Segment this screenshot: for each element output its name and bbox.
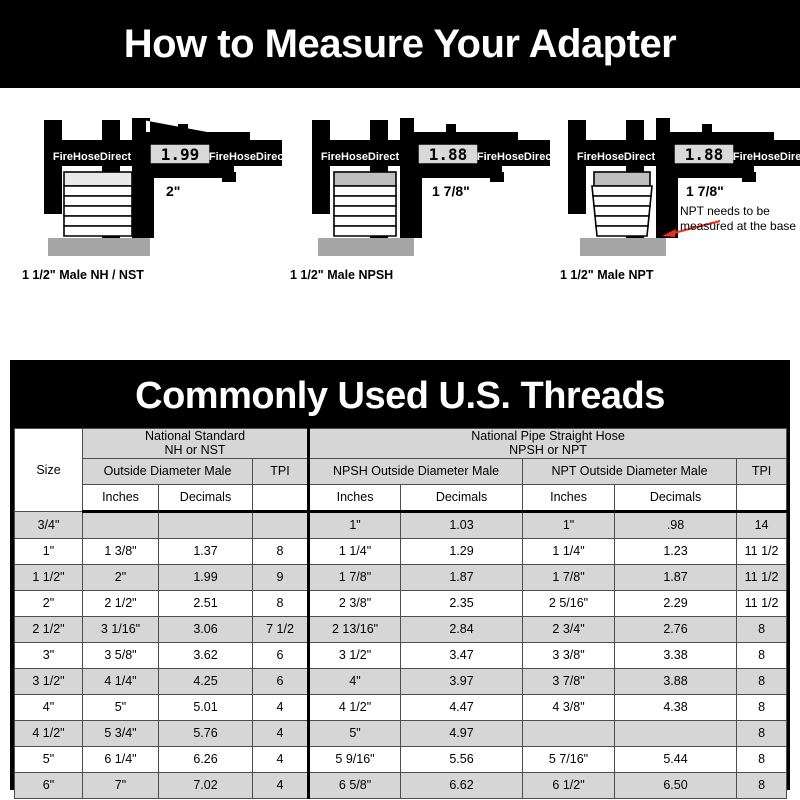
cell-npt-inches: 1 7/8" bbox=[523, 564, 615, 590]
cell-nh-tpi: 8 bbox=[253, 538, 309, 564]
dimension-label-npt: 1 7/8" bbox=[686, 183, 724, 199]
cell-npsh-decimals: 1.87 bbox=[401, 564, 523, 590]
caliper-watermark-nh-nst: FireHoseDirect bbox=[209, 151, 282, 163]
cell-nh-decimals: 2.51 bbox=[159, 590, 253, 616]
cell-nh-inches bbox=[83, 511, 159, 538]
cell-npsh-decimals: 1.29 bbox=[401, 538, 523, 564]
cell-size: 1 1/2" bbox=[15, 564, 83, 590]
cell-size: 4 1/2" bbox=[15, 720, 83, 746]
header-npsh-od: NPSH Outside Diameter Male bbox=[309, 458, 523, 484]
cell-npt-decimals: 1.87 bbox=[615, 564, 737, 590]
cell-npsh-inches: 1" bbox=[309, 511, 401, 538]
cell-npt-inches: 2 3/4" bbox=[523, 616, 615, 642]
threads-table: Size National Standard NH or NST Nationa… bbox=[14, 428, 787, 799]
cell-nh-tpi: 4 bbox=[253, 720, 309, 746]
cell-npsh-inches: 5 9/16" bbox=[309, 746, 401, 772]
cell-size: 2 1/2" bbox=[15, 616, 83, 642]
cell-npt-inches: 6 1/2" bbox=[523, 772, 615, 798]
cell-nh-tpi: 7 1/2 bbox=[253, 616, 309, 642]
cell-nh-inches: 2 1/2" bbox=[83, 590, 159, 616]
npt-annotation-line1: NPT needs to be bbox=[680, 204, 770, 218]
caliper-caption-nh-nst: 1 1/2" Male NH / NST bbox=[22, 268, 144, 282]
table-title-banner: Commonly Used U.S. Threads bbox=[14, 364, 786, 428]
caliper-display-value-nh-nst: 1.99 bbox=[161, 145, 200, 164]
cell-nh-inches: 2" bbox=[83, 564, 159, 590]
cell-nh-decimals: 3.06 bbox=[159, 616, 253, 642]
cell-nh-tpi bbox=[253, 511, 309, 538]
thread-illustration-npsh bbox=[318, 172, 414, 256]
header-npsh-decimals: Decimals bbox=[401, 484, 523, 511]
cell-size: 3 1/2" bbox=[15, 668, 83, 694]
cell-npt-decimals: 2.76 bbox=[615, 616, 737, 642]
cell-npsh-inches: 4 1/2" bbox=[309, 694, 401, 720]
header-size: Size bbox=[15, 429, 83, 512]
caliper-svg-nh-nst: 1.99 FireHoseDirect FireHoseDirect 2" bbox=[14, 88, 282, 288]
cell-npt-decimals: 2.29 bbox=[615, 590, 737, 616]
cell-npt-inches bbox=[523, 720, 615, 746]
cell-size: 6" bbox=[15, 772, 83, 798]
header-npt-od: NPT Outside Diameter Male bbox=[523, 458, 737, 484]
cell-npsh-decimals: 6.62 bbox=[401, 772, 523, 798]
table-body: 3/4"1"1.031".98141"1 3/8"1.3781 1/4"1.29… bbox=[15, 511, 787, 798]
cell-nh-decimals: 3.62 bbox=[159, 642, 253, 668]
table-row: 5"6 1/4"6.2645 9/16"5.565 7/16"5.448 bbox=[15, 746, 787, 772]
cell-size: 4" bbox=[15, 694, 83, 720]
cell-npt-decimals bbox=[615, 720, 737, 746]
caliper-watermark-left-nh-nst: FireHoseDirect bbox=[53, 151, 132, 163]
cell-npt-decimals: 3.88 bbox=[615, 668, 737, 694]
cell-npsh-inches: 2 3/8" bbox=[309, 590, 401, 616]
caliper-watermark-left-npt: FireHoseDirect bbox=[577, 151, 656, 163]
caliper-svg-npt: 1.88 FireHoseDirect FireHoseDirect 1 7/8… bbox=[550, 88, 800, 288]
header-npt-decimals: Decimals bbox=[615, 484, 737, 511]
cell-nh-inches: 5" bbox=[83, 694, 159, 720]
cell-npt-tpi: 14 bbox=[737, 511, 787, 538]
table-row: 6"7"7.0246 5/8"6.626 1/2"6.508 bbox=[15, 772, 787, 798]
table-row: 1 1/2"2"1.9991 7/8"1.871 7/8"1.8711 1/2 bbox=[15, 564, 787, 590]
table-title: Commonly Used U.S. Threads bbox=[135, 377, 665, 415]
cell-npsh-inches: 5" bbox=[309, 720, 401, 746]
caliper-diagram-nh-nst: 1.99 FireHoseDirect FireHoseDirect 2" bbox=[14, 88, 282, 288]
dimension-label-nh-nst: 2" bbox=[166, 183, 180, 199]
cell-npt-decimals: 1.23 bbox=[615, 538, 737, 564]
header-ns-line2: NH or NST bbox=[164, 443, 225, 457]
cell-nh-tpi: 4 bbox=[253, 772, 309, 798]
table-row: 2"2 1/2"2.5182 3/8"2.352 5/16"2.2911 1/2 bbox=[15, 590, 787, 616]
header-nh-tpi: TPI bbox=[253, 458, 309, 484]
cell-nh-decimals: 7.02 bbox=[159, 772, 253, 798]
caliper-diagram-npsh: 1.88 FireHoseDirect FireHoseDirect 1 7/8… bbox=[282, 88, 550, 288]
table-row: 3/4"1"1.031".9814 bbox=[15, 511, 787, 538]
cell-npt-tpi: 11 1/2 bbox=[737, 564, 787, 590]
cell-npt-inches: 4 3/8" bbox=[523, 694, 615, 720]
cell-npsh-inches: 6 5/8" bbox=[309, 772, 401, 798]
cell-npsh-decimals: 2.35 bbox=[401, 590, 523, 616]
cell-size: 3/4" bbox=[15, 511, 83, 538]
cell-npt-decimals: .98 bbox=[615, 511, 737, 538]
table-row: 2 1/2"3 1/16"3.067 1/22 13/16"2.842 3/4"… bbox=[15, 616, 787, 642]
cell-nh-tpi: 4 bbox=[253, 746, 309, 772]
cell-npt-tpi: 11 1/2 bbox=[737, 538, 787, 564]
cell-npsh-inches: 3 1/2" bbox=[309, 642, 401, 668]
caliper-diagram-band: FireHoseDirect 1.99 FireHoseDirect FireH… bbox=[0, 88, 800, 353]
cell-npt-decimals: 3.38 bbox=[615, 642, 737, 668]
header-npt-tpi-blank bbox=[737, 484, 787, 511]
cell-npt-tpi: 8 bbox=[737, 720, 787, 746]
cell-nh-inches: 3 5/8" bbox=[83, 642, 159, 668]
caliper-diagram-npt: 1.88 FireHoseDirect FireHoseDirect 1 7/8… bbox=[550, 88, 800, 288]
caliper-caption-npsh: 1 1/2" Male NPSH bbox=[290, 268, 393, 282]
cell-nh-inches: 1 3/8" bbox=[83, 538, 159, 564]
cell-nh-decimals: 5.76 bbox=[159, 720, 253, 746]
cell-nh-tpi: 9 bbox=[253, 564, 309, 590]
cell-npsh-decimals: 1.03 bbox=[401, 511, 523, 538]
caliper-display-value-npt: 1.88 bbox=[685, 145, 724, 164]
cell-npt-decimals: 6.50 bbox=[615, 772, 737, 798]
cell-nh-tpi: 4 bbox=[253, 694, 309, 720]
caliper-svg-npsh: 1.88 FireHoseDirect FireHoseDirect 1 7/8… bbox=[282, 88, 550, 288]
cell-size: 2" bbox=[15, 590, 83, 616]
caliper-caption-npt: 1 1/2" Male NPT bbox=[560, 268, 653, 282]
cell-npt-decimals: 5.44 bbox=[615, 746, 737, 772]
cell-npt-tpi: 8 bbox=[737, 746, 787, 772]
table-row: 3 1/2"4 1/4"4.2564"3.973 7/8"3.888 bbox=[15, 668, 787, 694]
thread-illustration-npt bbox=[580, 172, 666, 256]
caliper-watermark-left-npsh: FireHoseDirect bbox=[321, 151, 400, 163]
cell-npsh-inches: 2 13/16" bbox=[309, 616, 401, 642]
cell-npsh-decimals: 4.97 bbox=[401, 720, 523, 746]
cell-npt-tpi: 11 1/2 bbox=[737, 590, 787, 616]
cell-size: 5" bbox=[15, 746, 83, 772]
cell-nh-tpi: 6 bbox=[253, 642, 309, 668]
header-nh-od: Outside Diameter Male bbox=[83, 458, 253, 484]
cell-nh-decimals: 1.99 bbox=[159, 564, 253, 590]
header-npt-inches: Inches bbox=[523, 484, 615, 511]
cell-npsh-inches: 1 7/8" bbox=[309, 564, 401, 590]
header-npt-tpi: TPI bbox=[737, 458, 787, 484]
caliper-display-value-npsh: 1.88 bbox=[429, 145, 468, 164]
header-ns-line1: National Standard bbox=[145, 429, 245, 443]
page-title: How to Measure Your Adapter bbox=[124, 24, 677, 64]
cell-npt-tpi: 8 bbox=[737, 668, 787, 694]
cell-nh-decimals: 1.37 bbox=[159, 538, 253, 564]
cell-npsh-decimals: 2.84 bbox=[401, 616, 523, 642]
table-row: 1"1 3/8"1.3781 1/4"1.291 1/4"1.2311 1/2 bbox=[15, 538, 787, 564]
cell-npsh-decimals: 3.47 bbox=[401, 642, 523, 668]
cell-nh-decimals: 6.26 bbox=[159, 746, 253, 772]
header-nps-line2: NPSH or NPT bbox=[509, 443, 587, 457]
cell-npsh-decimals: 5.56 bbox=[401, 746, 523, 772]
header-nh-tpi-blank bbox=[253, 484, 309, 511]
cell-npt-inches: 1 1/4" bbox=[523, 538, 615, 564]
threads-table-block: Commonly Used U.S. Threads Size National… bbox=[10, 360, 790, 790]
header-nh-decimals: Decimals bbox=[159, 484, 253, 511]
cell-nh-inches: 4 1/4" bbox=[83, 668, 159, 694]
table-row: 3"3 5/8"3.6263 1/2"3.473 3/8"3.388 bbox=[15, 642, 787, 668]
cell-nh-inches: 3 1/16" bbox=[83, 616, 159, 642]
cell-nh-inches: 7" bbox=[83, 772, 159, 798]
cell-npt-inches: 3 7/8" bbox=[523, 668, 615, 694]
table-sub-header-row: Outside Diameter Male TPI NPSH Outside D… bbox=[15, 458, 787, 484]
table-group-header-row: Size National Standard NH or NST Nationa… bbox=[15, 429, 787, 459]
cell-npt-tpi: 8 bbox=[737, 616, 787, 642]
cell-npt-inches: 2 5/16" bbox=[523, 590, 615, 616]
cell-npt-inches: 5 7/16" bbox=[523, 746, 615, 772]
cell-npt-tpi: 8 bbox=[737, 772, 787, 798]
cell-nh-decimals: 4.25 bbox=[159, 668, 253, 694]
dimension-label-npsh: 1 7/8" bbox=[432, 183, 470, 199]
header-national-pipe-straight-hose: National Pipe Straight Hose NPSH or NPT bbox=[309, 429, 787, 459]
table-unit-header-row: Inches Decimals Inches Decimals Inches D… bbox=[15, 484, 787, 511]
cell-size: 1" bbox=[15, 538, 83, 564]
cell-nh-inches: 5 3/4" bbox=[83, 720, 159, 746]
npt-annotation-line2: measured at the base bbox=[680, 219, 796, 233]
table-row: 4 1/2"5 3/4"5.7645"4.978 bbox=[15, 720, 787, 746]
caliper-watermark-npt: FireHoseDirect bbox=[733, 151, 800, 163]
cell-npt-tpi: 8 bbox=[737, 642, 787, 668]
caliper-watermark-npsh: FireHoseDirect bbox=[477, 151, 550, 163]
header-nh-inches: Inches bbox=[83, 484, 159, 511]
cell-nh-decimals: 5.01 bbox=[159, 694, 253, 720]
cell-npsh-inches: 4" bbox=[309, 668, 401, 694]
cell-nh-decimals bbox=[159, 511, 253, 538]
cell-nh-tpi: 8 bbox=[253, 590, 309, 616]
cell-npsh-inches: 1 1/4" bbox=[309, 538, 401, 564]
page-title-banner: How to Measure Your Adapter bbox=[0, 0, 800, 88]
table-row: 4"5"5.0144 1/2"4.474 3/8"4.388 bbox=[15, 694, 787, 720]
cell-size: 3" bbox=[15, 642, 83, 668]
header-npsh-inches: Inches bbox=[309, 484, 401, 511]
cell-nh-tpi: 6 bbox=[253, 668, 309, 694]
header-nps-line1: National Pipe Straight Hose bbox=[471, 429, 625, 443]
cell-npsh-decimals: 4.47 bbox=[401, 694, 523, 720]
cell-npt-decimals: 4.38 bbox=[615, 694, 737, 720]
cell-npt-inches: 1" bbox=[523, 511, 615, 538]
cell-npt-inches: 3 3/8" bbox=[523, 642, 615, 668]
cell-nh-inches: 6 1/4" bbox=[83, 746, 159, 772]
cell-npsh-decimals: 3.97 bbox=[401, 668, 523, 694]
cell-npt-tpi: 8 bbox=[737, 694, 787, 720]
header-national-standard: National Standard NH or NST bbox=[83, 429, 309, 459]
